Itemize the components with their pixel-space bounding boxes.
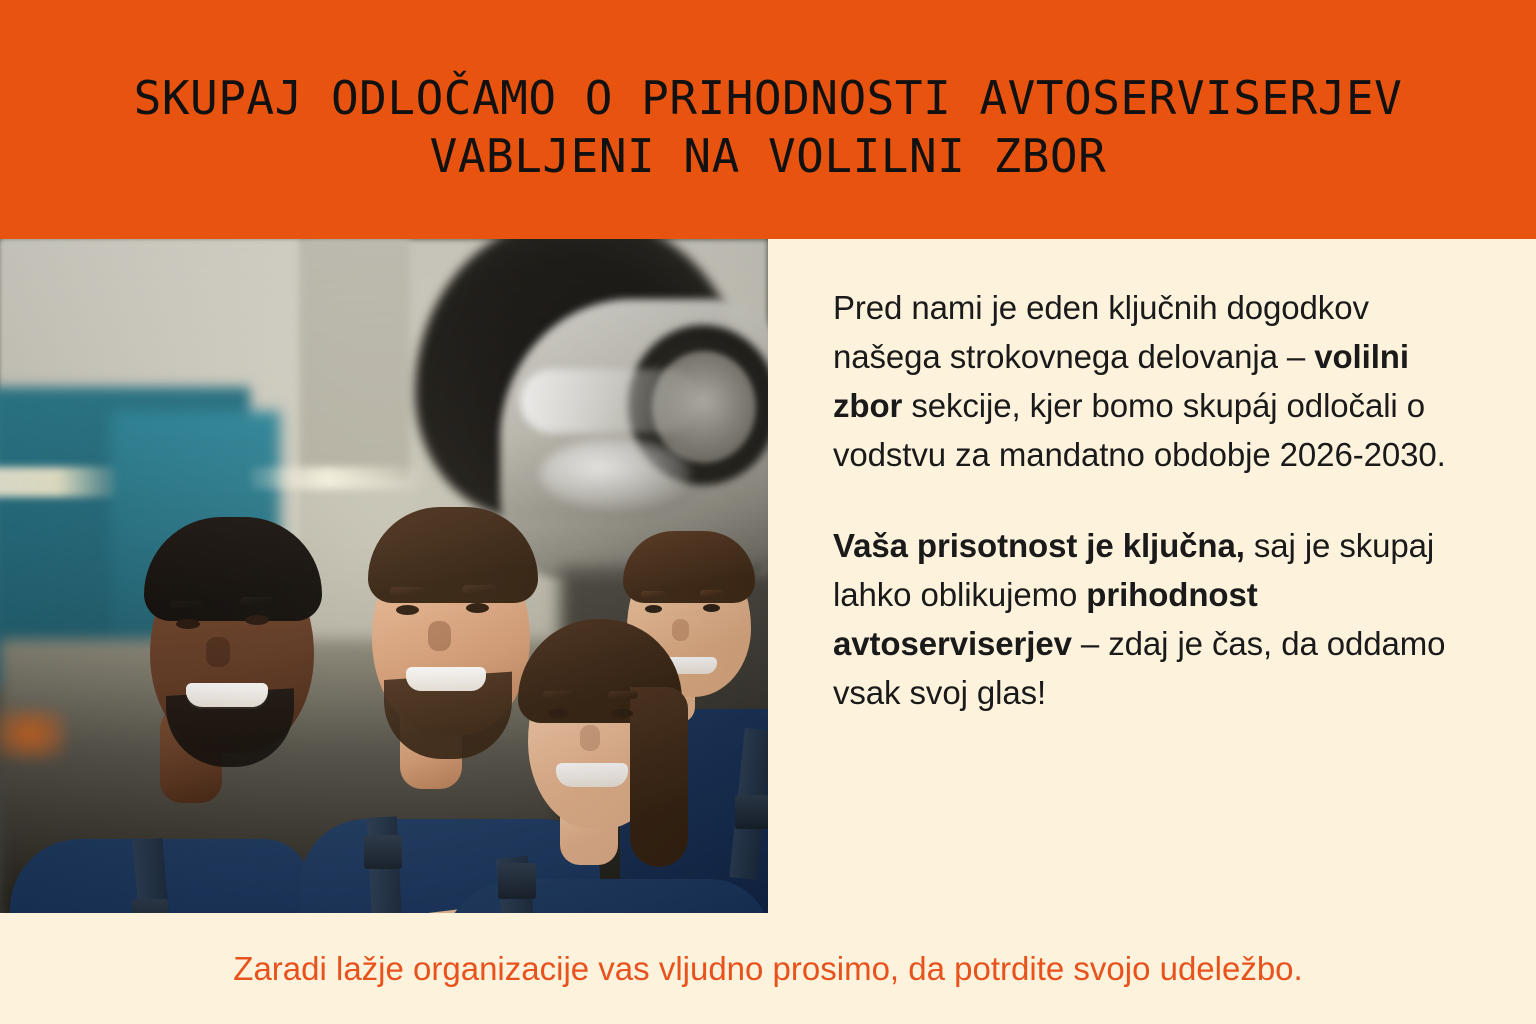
garage-scene (0, 239, 768, 913)
paragraph-2: Vaša prisotnost je ključna, saj je skupa… (833, 521, 1458, 717)
header-title-line-1: SKUPAJ ODLOČAMO O PRIHODNOSTI AVTOSERVIS… (134, 69, 1403, 127)
footer-call-to-action: Zaradi lažje organizacije vas vljudno pr… (233, 949, 1302, 989)
footer-strip: Zaradi lažje organizacije vas vljudno pr… (0, 913, 1536, 1024)
header-title-line-2: VABLJENI NA VOLILNI ZBOR (430, 127, 1107, 185)
paragraph-1: Pred nami je eden ključnih dogodkov naše… (833, 283, 1458, 479)
photo-vignette (0, 239, 768, 913)
paragraph-1-part-2: sekcije, kjer bomo skupáj odločali o vod… (833, 387, 1446, 473)
paragraph-2-bold-1: Vaša prisotnost je ključna, (833, 527, 1245, 564)
paragraph-spacer (833, 479, 1458, 521)
header-banner: SKUPAJ ODLOČAMO O PRIHODNOSTI AVTOSERVIS… (0, 0, 1536, 239)
poster-canvas: SKUPAJ ODLOČAMO O PRIHODNOSTI AVTOSERVIS… (0, 0, 1536, 1024)
body-text-column: Pred nami je eden ključnih dogodkov naše… (833, 283, 1458, 717)
paragraph-1-part-1: Pred nami je eden ključnih dogodkov naše… (833, 289, 1369, 375)
team-photo (0, 239, 768, 913)
